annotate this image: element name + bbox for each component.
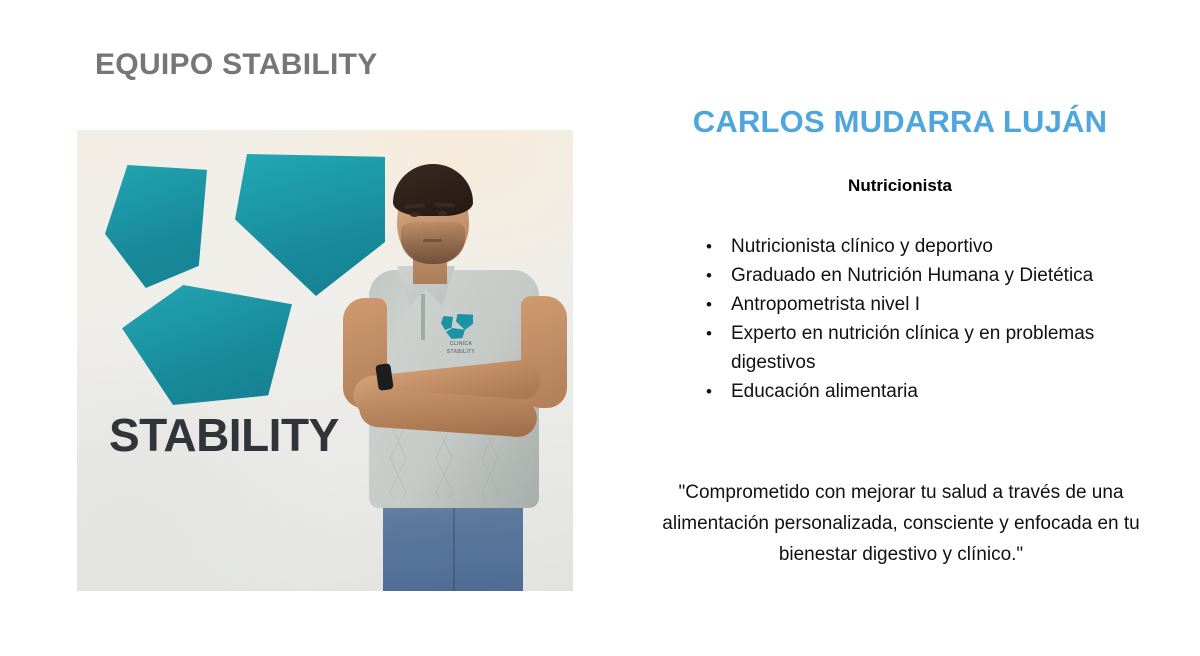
list-item: Experto en nutrición clínica y en proble…: [698, 319, 1178, 377]
list-item: Nutricionista clínico y deportivo: [698, 232, 1178, 261]
list-item: Antropometrista nivel I: [698, 290, 1178, 319]
mouth: [423, 239, 442, 242]
polo-placket: [421, 294, 425, 340]
beard: [401, 222, 465, 264]
credentials-list: Nutricionista clínico y deportivo Gradua…: [698, 232, 1178, 406]
left-eye: [410, 212, 419, 217]
person-figure: CLINICA STABILITY: [325, 138, 573, 591]
profile-name: CARLOS MUDARRA LUJÁN: [600, 104, 1200, 140]
list-item: Educación alimentaria: [698, 377, 1178, 406]
polo-brand-line-2: STABILITY: [433, 349, 489, 357]
profile-role: Nutricionista: [600, 176, 1200, 196]
right-eye: [438, 211, 447, 216]
profile-quote: "Comprometido con mejorar tu salud a tra…: [655, 477, 1147, 570]
slide-canvas: EQUIPO STABILITY STABILITY CLINICA STABI…: [0, 0, 1200, 656]
profile-panel: CARLOS MUDARRA LUJÁN Nutricionista Nutri…: [600, 0, 1200, 656]
wall-wordmark: STABILITY: [109, 408, 339, 462]
polo-brand-line-1: CLINICA: [433, 341, 489, 349]
list-item: Graduado en Nutrición Humana y Dietética: [698, 261, 1178, 290]
page-title: EQUIPO STABILITY: [95, 48, 378, 82]
profile-photo: STABILITY CLINICA STABILITY: [77, 130, 573, 591]
polo-brand-text: CLINICA STABILITY: [433, 341, 489, 356]
polo-logo-icon: [441, 314, 473, 338]
